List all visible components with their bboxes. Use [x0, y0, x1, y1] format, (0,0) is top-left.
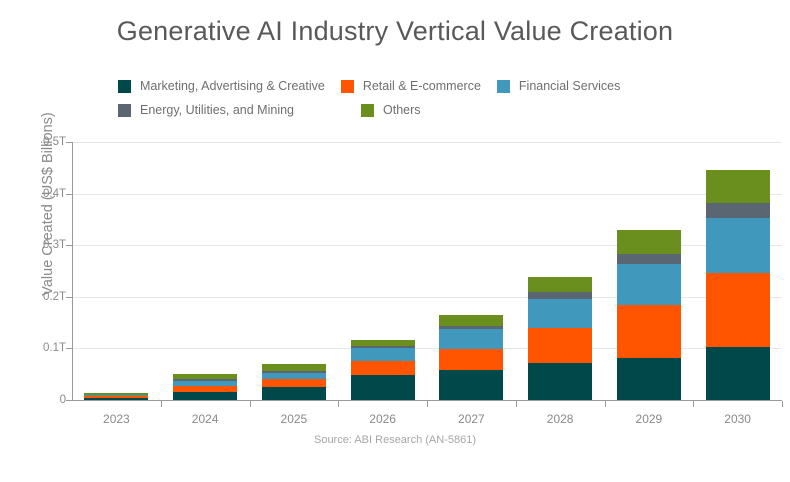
y-tick-label: 0.4T	[20, 188, 66, 200]
bar-segment[interactable]	[528, 328, 592, 363]
x-tick-mark	[516, 401, 517, 407]
bar-stack	[84, 393, 148, 400]
bar-group[interactable]	[262, 142, 326, 400]
bar-group[interactable]	[84, 142, 148, 400]
x-tick-label: 2029	[605, 412, 694, 426]
x-tick-label: 2025	[250, 412, 339, 426]
x-tick-label: 2028	[516, 412, 605, 426]
x-tick-mark	[250, 401, 251, 407]
x-tick-mark	[782, 401, 783, 407]
bar-segment[interactable]	[706, 273, 770, 347]
y-tick-label: 0.1T	[20, 342, 66, 354]
bar-stack	[439, 315, 503, 400]
bar-stack	[262, 364, 326, 400]
bar-group[interactable]	[173, 142, 237, 400]
x-tick-mark	[427, 401, 428, 407]
bar-segment[interactable]	[706, 218, 770, 273]
x-tick-mark	[161, 401, 162, 407]
bar-stack	[351, 340, 415, 400]
x-tick-mark	[693, 401, 694, 407]
plot-area: Value Created (US$ Billions) 00.1T0.2T0.…	[0, 0, 790, 482]
x-tick-mark	[338, 401, 339, 407]
bar-segment[interactable]	[706, 203, 770, 218]
x-tick-label: 2027	[427, 412, 516, 426]
bar-stack	[173, 374, 237, 400]
bar-group[interactable]	[706, 142, 770, 400]
x-tick-label: 2030	[693, 412, 782, 426]
bar-segment[interactable]	[439, 315, 503, 326]
bar-segment[interactable]	[351, 348, 415, 361]
bar-segment[interactable]	[439, 349, 503, 370]
bar-segment[interactable]	[439, 370, 503, 400]
bar-stack	[617, 230, 681, 400]
bar-segment[interactable]	[617, 254, 681, 265]
bar-segment[interactable]	[439, 329, 503, 349]
bar-segment[interactable]	[617, 358, 681, 400]
bar-segment[interactable]	[262, 379, 326, 387]
y-tick-label: 0.3T	[20, 239, 66, 251]
bar-group[interactable]	[351, 142, 415, 400]
bar-segment[interactable]	[617, 230, 681, 254]
bar-segment[interactable]	[617, 264, 681, 304]
y-tick-label: 0.5T	[20, 136, 66, 148]
bar-stack	[528, 277, 592, 400]
x-tick-mark	[605, 401, 606, 407]
bar-group[interactable]	[528, 142, 592, 400]
x-tick-label: 2024	[161, 412, 250, 426]
bar-segment[interactable]	[173, 392, 237, 400]
bar-group[interactable]	[439, 142, 503, 400]
x-tick-label: 2026	[338, 412, 427, 426]
bar-segment[interactable]	[84, 398, 148, 400]
bar-segment[interactable]	[262, 387, 326, 400]
y-tick-label: 0.2T	[20, 291, 66, 303]
bar-segment[interactable]	[262, 364, 326, 371]
bar-segment[interactable]	[528, 292, 592, 299]
y-axis-ticks: 00.1T0.2T0.3T0.4T0.5T	[0, 0, 66, 482]
y-tick-label: 0	[20, 394, 66, 406]
bar-segment[interactable]	[351, 361, 415, 375]
bar-segment[interactable]	[351, 375, 415, 400]
bar-group[interactable]	[617, 142, 681, 400]
bars-layer	[72, 142, 782, 400]
bar-segment[interactable]	[262, 373, 326, 380]
bar-segment[interactable]	[528, 363, 592, 400]
bar-stack	[706, 170, 770, 400]
x-tick-label: 2023	[72, 412, 161, 426]
bar-segment[interactable]	[528, 299, 592, 328]
bar-segment[interactable]	[706, 347, 770, 400]
bar-segment[interactable]	[706, 170, 770, 203]
chart-container: Generative AI Industry Vertical Value Cr…	[0, 0, 790, 482]
source-note: Source: ABI Research (AN-5861)	[0, 434, 790, 446]
bar-segment[interactable]	[528, 277, 592, 292]
bar-segment[interactable]	[617, 305, 681, 358]
